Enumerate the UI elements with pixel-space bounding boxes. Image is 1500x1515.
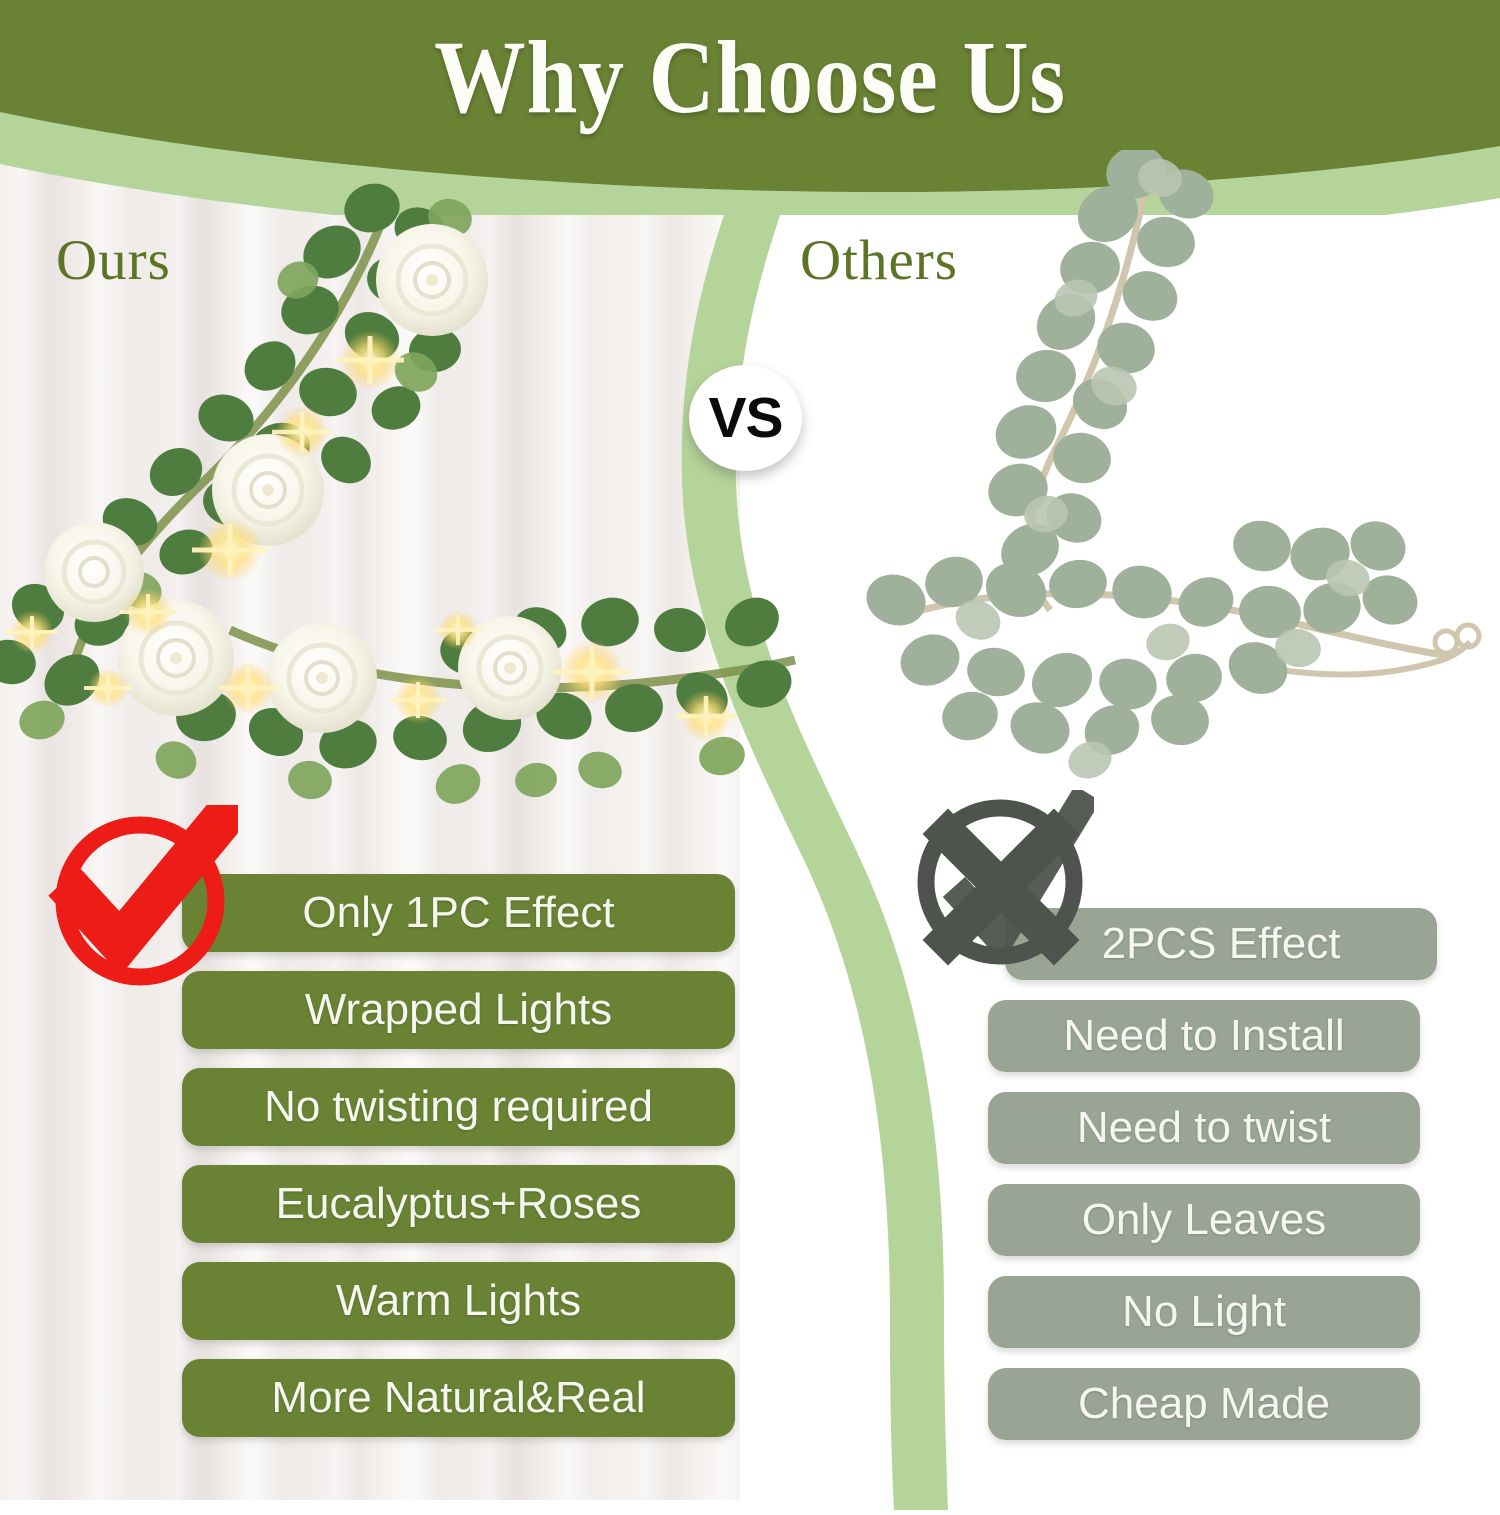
ours-feature-pill[interactable]: No twisting required bbox=[182, 1068, 735, 1146]
vs-label: VS bbox=[708, 390, 782, 447]
others-feature-pill[interactable]: Need to Install bbox=[988, 1000, 1420, 1072]
others-feature-pill[interactable]: Only Leaves bbox=[988, 1184, 1420, 1256]
cross-circle-icon bbox=[912, 790, 1094, 972]
others-feature-pill[interactable]: Need to twist bbox=[988, 1092, 1420, 1164]
others-feature-pill[interactable]: Cheap Made bbox=[988, 1368, 1420, 1440]
page-title: Why Choose Us bbox=[90, 18, 1410, 137]
ours-feature-pill[interactable]: More Natural&Real bbox=[182, 1359, 735, 1437]
vs-badge: VS bbox=[689, 365, 802, 471]
others-label: Others bbox=[800, 228, 958, 293]
infographic-canvas: Why Choose Us Ours Others VS Only 1PC Ef… bbox=[0, 0, 1500, 1500]
ours-feature-pill[interactable]: Eucalyptus+Roses bbox=[182, 1165, 735, 1243]
ours-label: Ours bbox=[56, 228, 171, 293]
ours-feature-pill[interactable]: Warm Lights bbox=[182, 1262, 735, 1340]
others-feature-pill[interactable]: No Light bbox=[988, 1276, 1420, 1348]
ours-feature-pill[interactable]: Wrapped Lights bbox=[182, 971, 735, 1049]
ours-feature-pill[interactable]: Only 1PC Effect bbox=[182, 874, 735, 952]
check-circle-icon bbox=[48, 805, 238, 995]
